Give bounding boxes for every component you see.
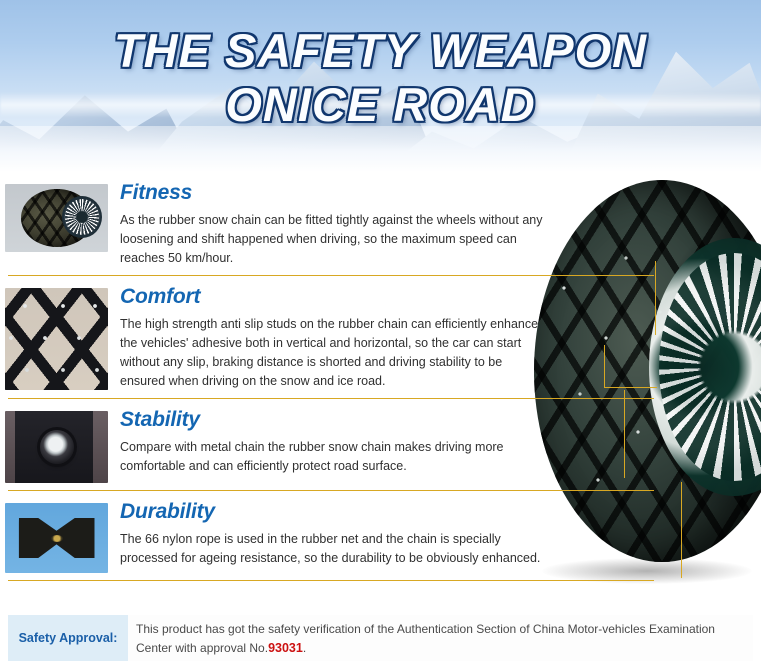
safety-approval-text: This product has got the safety verifica… — [128, 615, 753, 661]
approval-number: 93031 — [268, 641, 303, 655]
feature-heading: Stability — [120, 407, 761, 433]
x-part-icon — [19, 518, 95, 558]
feature-body: The 66 nylon rope is used in the rubber … — [120, 530, 550, 568]
safety-approval-label: Safety Approval: — [8, 615, 128, 661]
feature-text: Fitness As the rubber snow chain can be … — [108, 172, 761, 268]
safety-approval-footer: Safety Approval: This product has got th… — [8, 615, 753, 661]
feature-list: Fitness As the rubber snow chain can be … — [0, 172, 761, 581]
feature-heading: Fitness — [120, 180, 761, 206]
header-banner: THE SAFETY WEAPON ONICE ROAD — [0, 0, 761, 172]
thumbnail-metal-stud — [5, 411, 108, 483]
feature-body: The high strength anti slip studs on the… — [120, 315, 550, 391]
snowfield — [0, 126, 761, 172]
feature-text: Comfort The high strength anti slip stud… — [108, 276, 761, 391]
thumbnail-tire-with-snow-chain — [5, 184, 108, 252]
product-infographic-page: THE SAFETY WEAPON ONICE ROAD Fitness As … — [0, 0, 761, 666]
feature-block-fitness: Fitness As the rubber snow chain can be … — [0, 172, 761, 276]
studs-pattern-icon — [5, 288, 108, 390]
approval-text-before: This product has got the safety verifica… — [136, 622, 715, 655]
metal-stud-icon — [40, 430, 74, 464]
feature-text: Durability The 66 nylon rope is used in … — [108, 491, 761, 568]
thumbnail-rubber-mesh — [5, 288, 108, 390]
feature-heading: Comfort — [120, 284, 761, 310]
feature-block-durability: Durability The 66 nylon rope is used in … — [0, 491, 761, 581]
approval-text-after: . — [303, 641, 306, 655]
feature-text: Stability Compare with metal chain the r… — [108, 399, 761, 476]
section-divider — [8, 580, 654, 581]
banner-title: THE SAFETY WEAPON ONICE ROAD — [0, 24, 761, 132]
feature-body: As the rubber snow chain can be fitted t… — [120, 211, 550, 268]
rim-icon — [62, 196, 102, 238]
feature-block-stability: Stability Compare with metal chain the r… — [0, 399, 761, 491]
feature-block-comfort: Comfort The high strength anti slip stud… — [0, 276, 761, 399]
feature-body: Compare with metal chain the rubber snow… — [120, 438, 550, 476]
feature-heading: Durability — [120, 499, 761, 525]
thumbnail-x-shaped-part — [5, 503, 108, 573]
